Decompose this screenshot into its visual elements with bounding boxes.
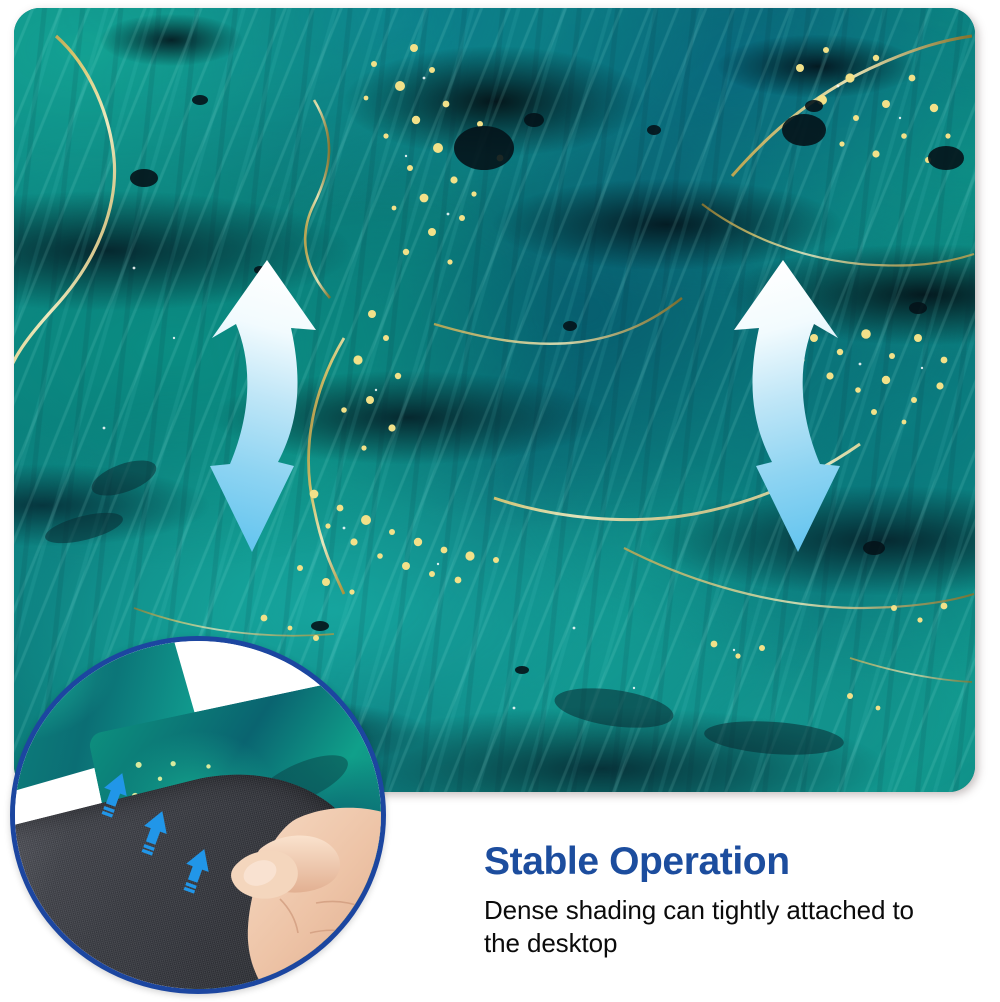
product-feature-image: Stable Operation Dense shading can tight… — [0, 0, 1000, 1002]
grip-arrow-icon-1 — [95, 769, 133, 820]
grip-detail-circle — [10, 636, 386, 994]
hand-illustration — [220, 791, 386, 994]
grip-arrow-icon-2 — [135, 807, 173, 858]
curved-double-arrow-right-icon — [690, 252, 860, 572]
curved-double-arrow-left-icon — [190, 252, 360, 572]
curved-double-arrow-right — [690, 252, 860, 577]
caption-block: Stable Operation Dense shading can tight… — [484, 842, 954, 960]
curved-double-arrow-left — [190, 252, 360, 577]
caption-title: Stable Operation — [484, 842, 954, 882]
grip-arrow-icon-3 — [177, 845, 215, 896]
caption-subtitle: Dense shading can tightly attached to th… — [484, 894, 934, 961]
